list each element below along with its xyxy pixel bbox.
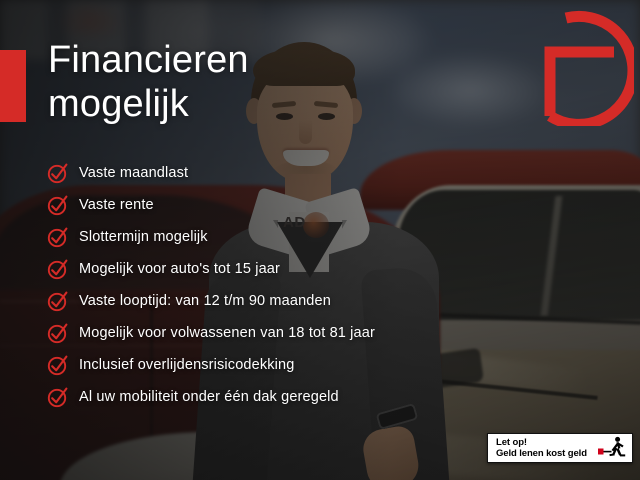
feature-label: Vaste maandlast (79, 165, 188, 181)
list-item: Vaste looptijd: van 12 t/m 90 maanden (46, 285, 375, 317)
red-arc-arrow-logo (522, 0, 634, 126)
check-circle-icon (46, 353, 70, 377)
check-circle-icon (46, 321, 70, 345)
check-circle-icon (46, 257, 70, 281)
status-badge: Let op! Geld lenen kost geld (487, 433, 633, 463)
feature-label: Al uw mobiliteit onder één dak geregeld (79, 389, 339, 405)
list-item: Vaste rente (46, 189, 375, 221)
red-accent-block (0, 50, 26, 122)
warning-text: Let op! Geld lenen kost geld (496, 437, 597, 459)
list-item: Slottermijn mogelijk (46, 221, 375, 253)
check-circle-icon (46, 385, 70, 409)
list-item: Al uw mobiliteit onder één dak geregeld (46, 381, 375, 413)
feature-label: Slottermijn mogelijk (79, 229, 208, 245)
feature-label: Vaste rente (79, 197, 154, 213)
check-circle-icon (46, 289, 70, 313)
check-circle-icon (46, 289, 70, 313)
feature-label: Vaste looptijd: van 12 t/m 90 maanden (79, 293, 331, 309)
check-circle-icon (46, 385, 70, 409)
check-circle-icon (46, 193, 70, 217)
check-circle-icon (46, 353, 70, 377)
check-circle-icon (46, 321, 70, 345)
feature-label: Mogelijk voor auto's tot 15 jaar (79, 261, 280, 277)
check-circle-icon (46, 161, 70, 185)
feature-list: Vaste maandlastVaste renteSlottermijn mo… (46, 157, 375, 413)
check-circle-icon (46, 193, 70, 217)
list-item: Vaste maandlast (46, 157, 375, 189)
list-item: Inclusief overlijdensrisicodekking (46, 349, 375, 381)
check-circle-icon (46, 225, 70, 249)
list-item: Mogelijk voor volwassenen van 18 tot 81 … (46, 317, 375, 349)
page-title: Financieren mogelijk (48, 38, 249, 126)
check-circle-icon (46, 257, 70, 281)
feature-label: Inclusief overlijdensrisicodekking (79, 357, 294, 373)
feature-label: Mogelijk voor volwassenen van 18 tot 81 … (79, 325, 375, 341)
check-circle-icon (46, 225, 70, 249)
check-circle-icon (46, 161, 70, 185)
financing-promo-banner: AD Financieren mogelijk Vaste maandlastV… (0, 0, 640, 480)
list-item: Mogelijk voor auto's tot 15 jaar (46, 253, 375, 285)
walking-man-pulling-weight-icon (597, 436, 627, 460)
